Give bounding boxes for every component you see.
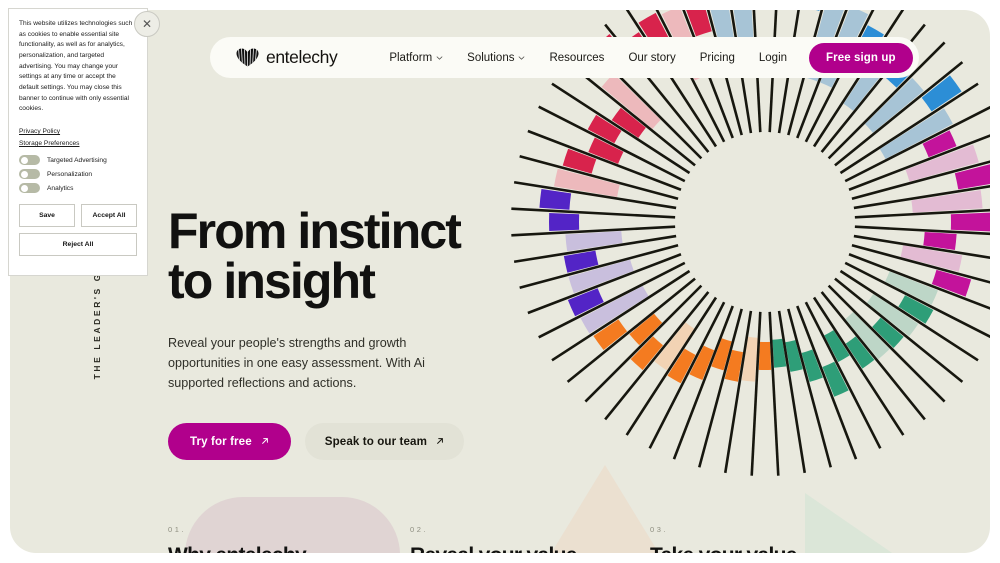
cookie-links: Privacy Policy Storage Preferences (19, 128, 137, 147)
wheel-spoke (511, 209, 675, 218)
main-navbar: entelechy PlatformSolutionsResourcesOur … (210, 37, 919, 78)
wheel-segment (549, 213, 579, 231)
toggle-switch-personalization[interactable] (19, 169, 40, 179)
close-icon[interactable]: ✕ (134, 11, 160, 37)
speak-to-team-button[interactable]: Speak to our team (305, 423, 464, 460)
nav-link-our-story[interactable]: Our story (628, 52, 675, 64)
feature-item-01[interactable]: 01. Why entelechy (168, 525, 306, 553)
toggle-label: Analytics (47, 185, 73, 192)
brand-name: entelechy (266, 47, 337, 68)
speak-to-team-label: Speak to our team (325, 435, 427, 448)
entelechy-heart-logo-icon (236, 48, 259, 67)
nav-link-label: Pricing (700, 52, 735, 64)
storage-preferences-link[interactable]: Storage Preferences (19, 140, 79, 147)
feature-number: 01. (168, 525, 306, 534)
wheel-segment (539, 189, 571, 210)
nav-link-platform[interactable]: Platform (389, 52, 443, 64)
toggle-switch-targeted-advertising[interactable] (19, 155, 40, 165)
nav-link-label: Solutions (467, 52, 514, 64)
nav-link-label: Login (759, 52, 787, 64)
chevron-down-icon (518, 56, 525, 60)
feature-title: Why entelechy (168, 544, 306, 553)
arrow-up-right-icon (261, 437, 269, 445)
wheel-spoke (725, 311, 751, 473)
try-for-free-button[interactable]: Try for free (168, 423, 291, 460)
nav-link-pricing[interactable]: Pricing (700, 52, 735, 64)
nav-link-label: Resources (549, 52, 604, 64)
page-title: From instinct to insight (168, 206, 498, 306)
nav-link-resources[interactable]: Resources (549, 52, 604, 64)
reject-all-button[interactable]: Reject All (19, 233, 137, 256)
chevron-down-icon (436, 56, 443, 60)
accept-all-button[interactable]: Accept All (81, 204, 137, 227)
cookie-toggles: Targeted Advertising Personalization Ana… (19, 155, 137, 193)
nav-link-solutions[interactable]: Solutions (467, 52, 525, 64)
privacy-policy-link[interactable]: Privacy Policy (19, 128, 60, 135)
wheel-spoke (779, 311, 805, 473)
side-vertical-label: THE LEADER'S G (92, 272, 102, 379)
wheel-spoke (770, 312, 779, 476)
toggle-row-personalization[interactable]: Personalization (19, 169, 137, 179)
wheel-spoke (699, 309, 741, 467)
feature-title: Reveal your value (410, 544, 577, 553)
try-for-free-label: Try for free (190, 435, 252, 448)
feature-item-03[interactable]: 03. Take your value (650, 525, 797, 553)
wheel-spoke (752, 312, 761, 476)
feature-number: 03. (650, 525, 797, 534)
page-root: entelechy PlatformSolutionsResourcesOur … (0, 0, 1000, 563)
toggle-row-analytics[interactable]: Analytics (19, 183, 137, 193)
save-button[interactable]: Save (19, 204, 75, 227)
cookie-buttons: Save Accept All Reject All (19, 204, 137, 256)
toggle-label: Personalization (47, 171, 92, 178)
toggle-switch-analytics[interactable] (19, 183, 40, 193)
wheel-segment (951, 213, 990, 232)
toggle-label: Targeted Advertising (47, 157, 107, 164)
nav-link-label: Platform (389, 52, 432, 64)
nav-link-label: Our story (628, 52, 675, 64)
feature-number: 02. (410, 525, 577, 534)
brand[interactable]: entelechy (236, 47, 337, 68)
nav-link-login[interactable]: Login (759, 52, 787, 64)
wheel-segment (759, 342, 771, 370)
cookie-body-text: This website utilizes technologies such … (19, 19, 137, 115)
feature-item-02[interactable]: 02. Reveal your value (410, 525, 577, 553)
feature-title: Take your value (650, 544, 797, 553)
hero-card: entelechy PlatformSolutionsResourcesOur … (10, 10, 990, 553)
toggle-row-targeted-advertising[interactable]: Targeted Advertising (19, 155, 137, 165)
free-signup-button[interactable]: Free sign up (809, 43, 913, 73)
hero-subtitle: Reveal your people's strengths and growt… (168, 334, 460, 394)
hero-copy: From instinct to insight Reveal your peo… (168, 206, 498, 460)
arrow-up-right-icon (436, 437, 444, 445)
decorative-shape-green (805, 493, 895, 553)
wheel-spoke (788, 309, 830, 467)
nav-links: PlatformSolutionsResourcesOur storyPrici… (389, 52, 787, 64)
radial-assessment-wheel (505, 10, 990, 482)
cookie-button-row: Save Accept All (19, 204, 137, 227)
cookie-consent-banner: ✕ This website utilizes technologies suc… (8, 8, 148, 276)
cta-row: Try for free Speak to our team (168, 423, 498, 460)
feature-strip: 01. Why entelechy 02. Reveal your value … (10, 465, 990, 553)
